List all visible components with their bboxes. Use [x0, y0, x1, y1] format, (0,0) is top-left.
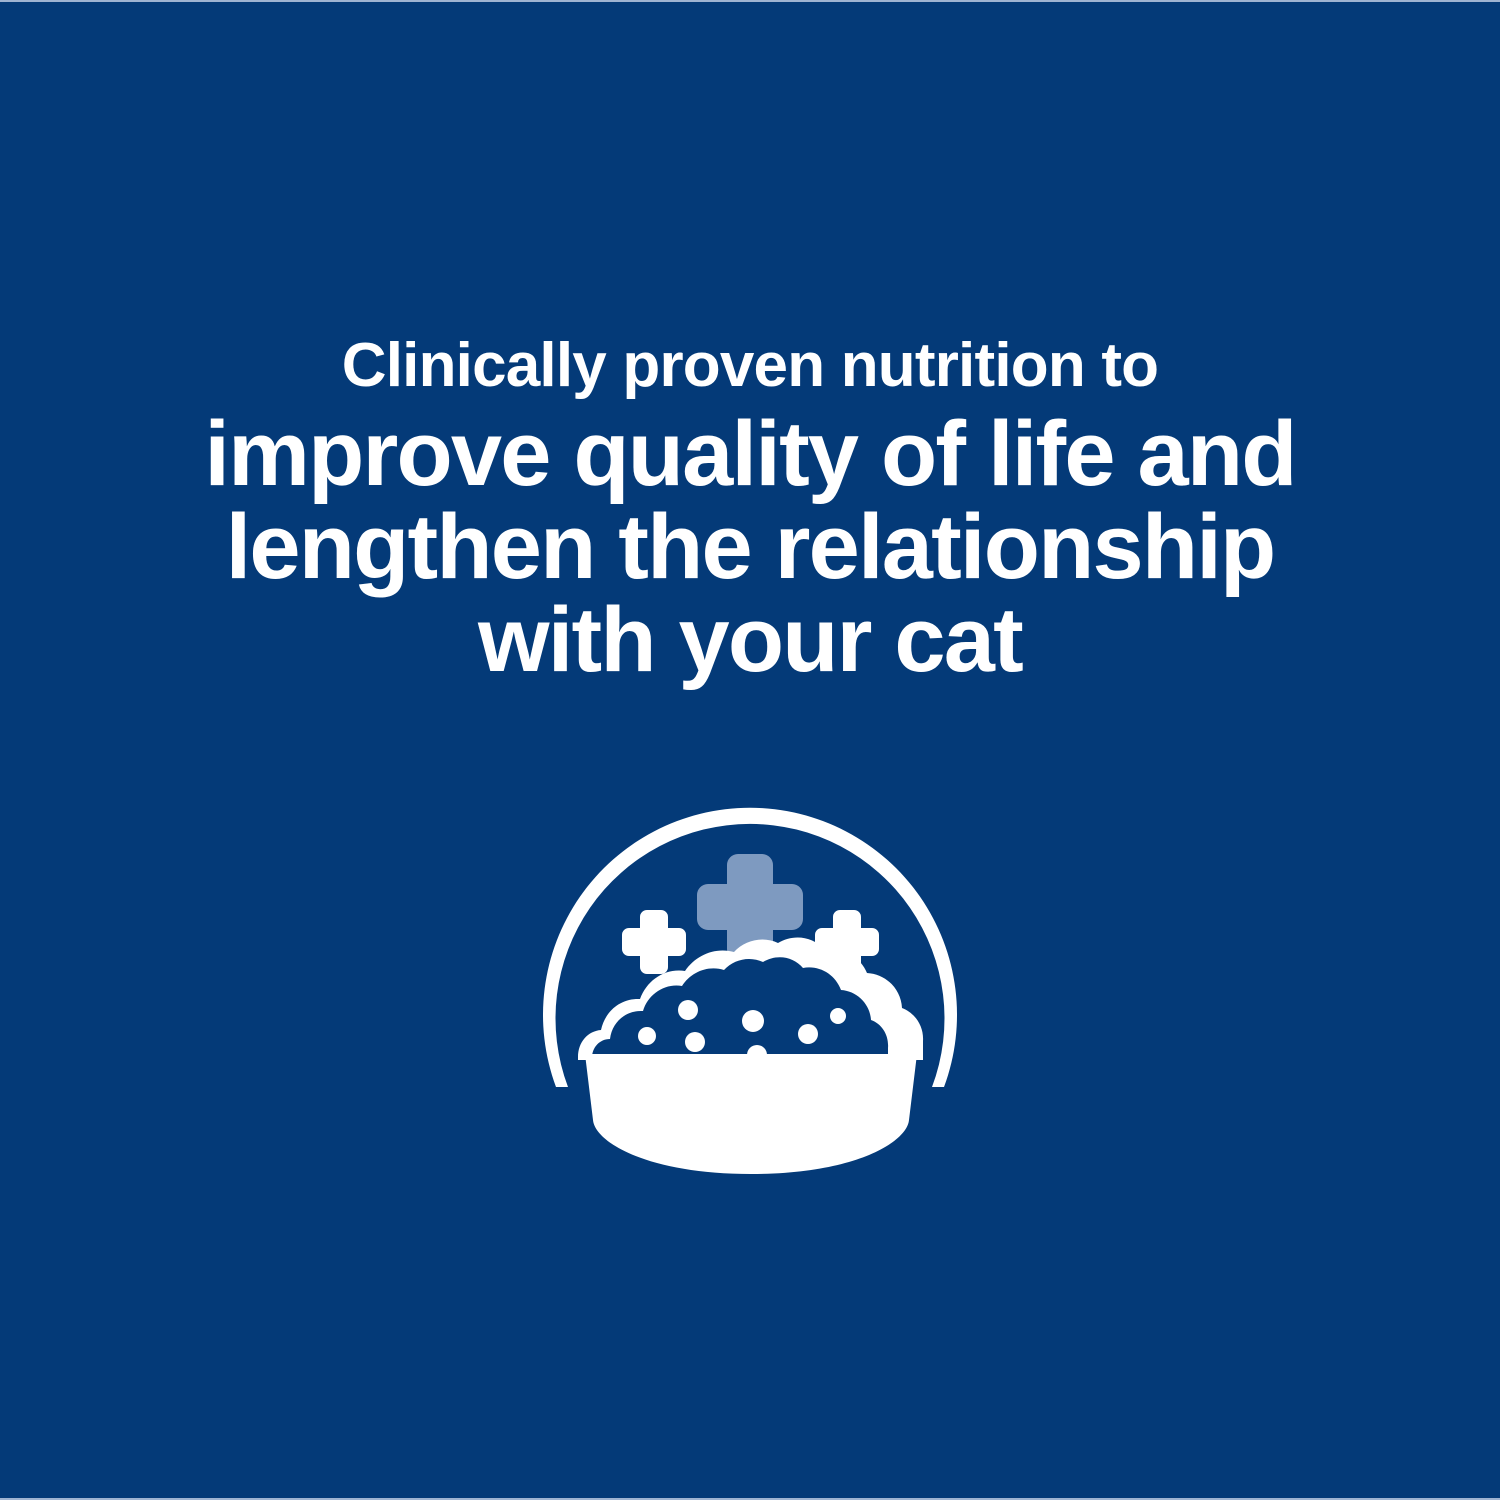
headline-line-1: Clinically proven nutrition to [0, 324, 1500, 408]
headline-line-4: with your cat [0, 594, 1500, 687]
kibble-dot [742, 1010, 764, 1032]
sparkle-plus-left-icon [622, 910, 686, 974]
kibble-mound-icon [578, 937, 923, 1065]
kibble-dot [830, 1008, 846, 1024]
icon-svg [495, 802, 1005, 1242]
pet-food-bowl-icon [585, 1054, 917, 1174]
kibble-dot [685, 1032, 705, 1052]
food-bowl-with-sparkles-icon [495, 802, 1005, 1242]
kibble-dot [678, 1000, 698, 1020]
poster-canvas: Clinically proven nutrition to improve q… [0, 0, 1500, 1500]
kibble-dot [798, 1024, 818, 1044]
headline-line-3: lengthen the relationship [0, 501, 1500, 594]
kibble-dot [638, 1027, 656, 1045]
headline-block: Clinically proven nutrition to improve q… [0, 324, 1500, 687]
headline-line-2: improve quality of life and [0, 408, 1500, 501]
